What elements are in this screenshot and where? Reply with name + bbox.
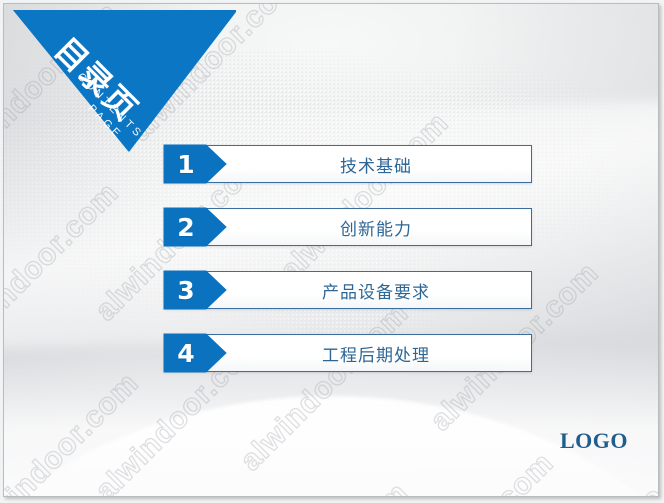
contents-item-number: 4 (164, 334, 208, 372)
contents-item-number: 3 (164, 271, 208, 309)
contents-item-1[interactable]: 1技术基础 (164, 145, 532, 183)
contents-item-label: 创新能力 (228, 208, 524, 246)
contents-item-number: 1 (164, 145, 208, 183)
contents-item-label: 工程后期处理 (228, 334, 524, 372)
contents-list: 1技术基础2创新能力3产品设备要求4工程后期处理 (164, 145, 532, 397)
contents-item-3[interactable]: 3产品设备要求 (164, 271, 532, 309)
slide-canvas: alwindoor.comalwindoor.comalwindoor.coma… (0, 0, 664, 503)
contents-item-4[interactable]: 4工程后期处理 (164, 334, 532, 372)
contents-item-2[interactable]: 2创新能力 (164, 208, 532, 246)
contents-item-number: 2 (164, 208, 208, 246)
logo-text: LOGO (560, 428, 628, 454)
corner-triangle-banner (4, 4, 240, 152)
contents-item-label: 产品设备要求 (228, 271, 524, 309)
contents-item-label: 技术基础 (228, 145, 524, 183)
slide-frame-border: alwindoor.comalwindoor.comalwindoor.coma… (3, 3, 659, 497)
